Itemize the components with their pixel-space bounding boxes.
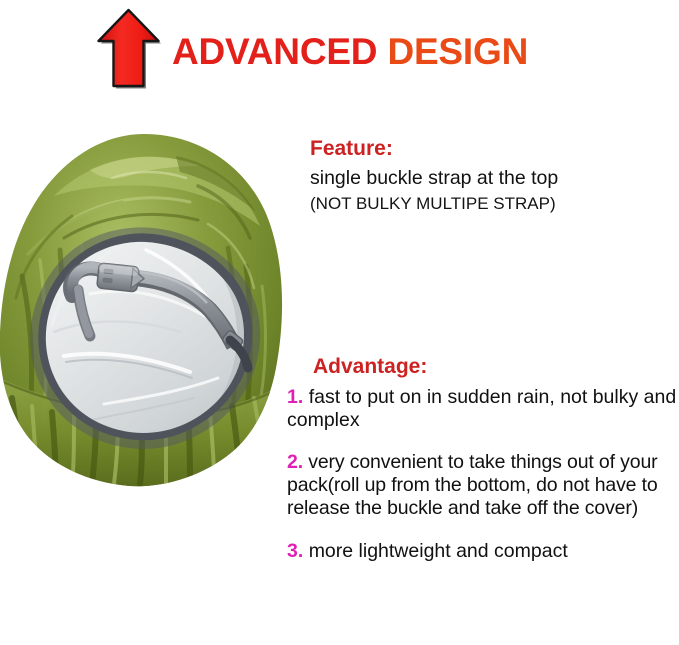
advantage-item-text: more lightweight and compact xyxy=(309,540,568,562)
advantage-list-item: 2. very convenient to take things out of… xyxy=(287,451,679,519)
feature-block: Feature: single buckle strap at the top … xyxy=(310,136,679,214)
feature-sub-text: (NOT BULKY MULTIPE STRAP) xyxy=(310,193,679,214)
title-word-advanced: ADVANCED xyxy=(172,31,377,72)
product-image-rain-cover xyxy=(0,126,294,506)
feature-heading: Feature: xyxy=(310,136,679,161)
advantage-item-number: 3. xyxy=(287,540,303,562)
advantage-list: 1. fast to put on in sudden rain, not bu… xyxy=(287,386,679,563)
advantage-heading: Advantage: xyxy=(313,354,679,379)
text-column: Feature: single buckle strap at the top … xyxy=(287,136,679,563)
advantage-item-number: 2. xyxy=(287,451,303,473)
infographic-page: ADVANCED DESIGN xyxy=(0,0,679,645)
up-arrow-icon xyxy=(96,8,162,90)
advantage-item-text: very convenient to take things out of yo… xyxy=(287,451,658,519)
page-title: ADVANCED DESIGN xyxy=(172,33,528,70)
advantage-list-item: 3. more lightweight and compact xyxy=(287,540,679,563)
advantage-block: Advantage: 1. fast to put on in sudden r… xyxy=(287,354,679,563)
advantage-item-number: 1. xyxy=(287,386,303,408)
advantage-item-text: fast to put on in sudden rain, not bulky… xyxy=(287,386,676,431)
advantage-list-item: 1. fast to put on in sudden rain, not bu… xyxy=(287,386,679,432)
title-word-design: DESIGN xyxy=(387,31,528,72)
header-banner: ADVANCED DESIGN xyxy=(0,0,679,100)
feature-main-text: single buckle strap at the top xyxy=(310,167,679,191)
